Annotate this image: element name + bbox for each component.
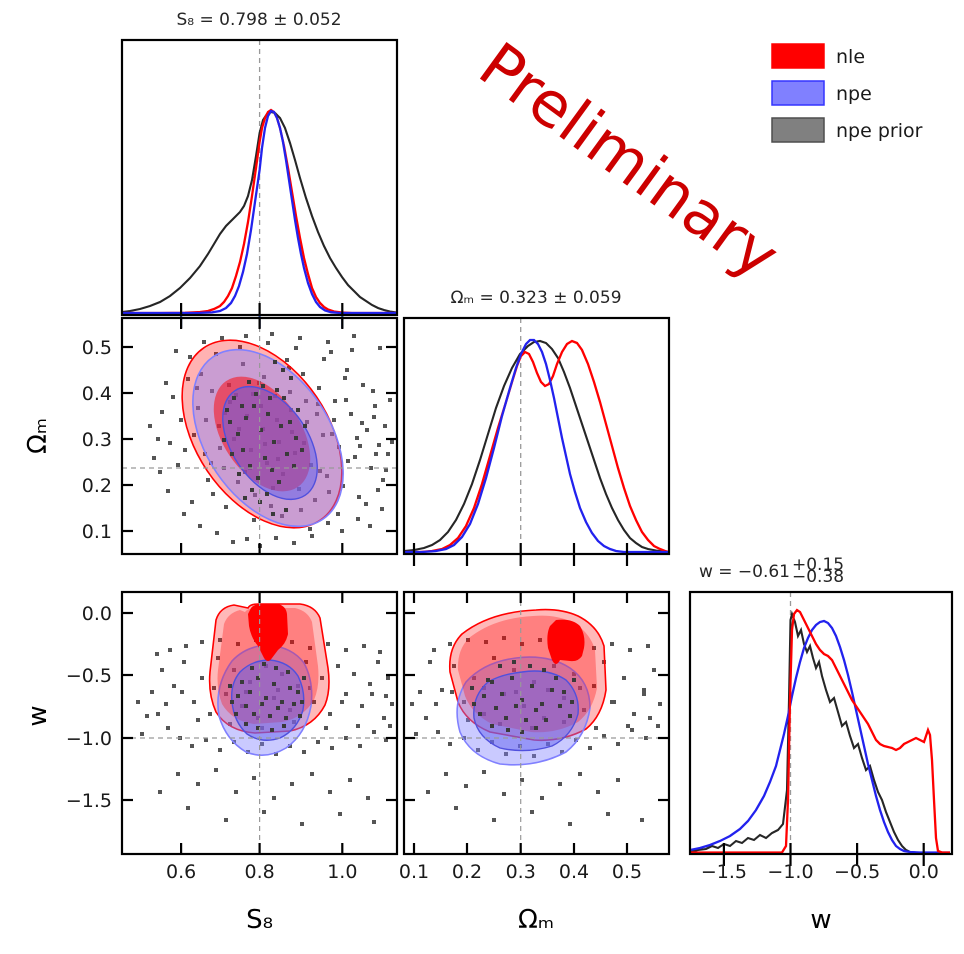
legend-label-nle: nle [836, 46, 865, 68]
xtick-label: 1.0 [327, 861, 357, 883]
contour-npe-1sigma-omw [474, 671, 578, 751]
xtick-label: −1.0 [767, 861, 813, 883]
legend-swatch-npe-prior [772, 118, 824, 142]
contour-npe-1sigma-s8w [232, 660, 304, 740]
ytick-label: 0.4 [82, 383, 112, 405]
ytick-label: 0.0 [82, 603, 112, 625]
figure-background [0, 0, 964, 954]
legend-item-npe-prior[interactable]: npe prior [772, 118, 923, 142]
x-axis-title-w: w [810, 905, 831, 935]
xtick-label: 0.4 [559, 861, 589, 883]
xtick-label: 0.2 [452, 861, 482, 883]
corner-plot-canvas: S₈ = 0.798 ± 0.052 [0, 0, 964, 954]
x-axis-title-omegam: Ωₘ [518, 905, 554, 935]
ytick-label: 0.1 [82, 521, 112, 543]
panel-title-w-main: w = −0.61 [699, 562, 790, 582]
xtick-label: 0.8 [244, 861, 274, 883]
legend-item-nle[interactable]: nle [772, 44, 865, 68]
xtick-label: −0.5 [834, 861, 880, 883]
legend-label-npe-prior: npe prior [836, 120, 923, 142]
corner-plot-figure: S₈ = 0.798 ± 0.052 [0, 0, 964, 954]
y-axis-title-omegam: Ωₘ [23, 418, 53, 454]
xtick-label: 0.3 [506, 861, 536, 883]
ytick-label: −1.0 [66, 728, 112, 750]
y-axis-title-w: w [23, 705, 53, 726]
ytick-label: 0.5 [82, 337, 112, 359]
xtick-label: 0.6 [166, 861, 196, 883]
s8-xtick-labels: 0.6 0.8 1.0 [166, 861, 357, 883]
xtick-label: 0.0 [909, 861, 939, 883]
xtick-label: −1.5 [701, 861, 747, 883]
ytick-label: −0.5 [66, 665, 112, 687]
nle-mode-blob-omw [547, 620, 584, 664]
panel-title-s8: S₈ = 0.798 ± 0.052 [176, 10, 341, 30]
xtick-label: 0.1 [399, 861, 429, 883]
ytick-label: 0.2 [82, 475, 112, 497]
xtick-label: 0.5 [612, 861, 642, 883]
ytick-label: 0.3 [82, 429, 112, 451]
legend-label-npe: npe [836, 83, 872, 105]
legend-item-npe[interactable]: npe [772, 81, 872, 105]
legend-swatch-nle [772, 44, 824, 68]
panel-title-w-subscript: −0.38 [792, 567, 844, 587]
legend-swatch-npe [772, 81, 824, 105]
x-axis-title-s8: S₈ [246, 905, 273, 935]
panel-title-omegam: Ωₘ = 0.323 ± 0.059 [450, 288, 621, 308]
ytick-label: −1.5 [66, 790, 112, 812]
